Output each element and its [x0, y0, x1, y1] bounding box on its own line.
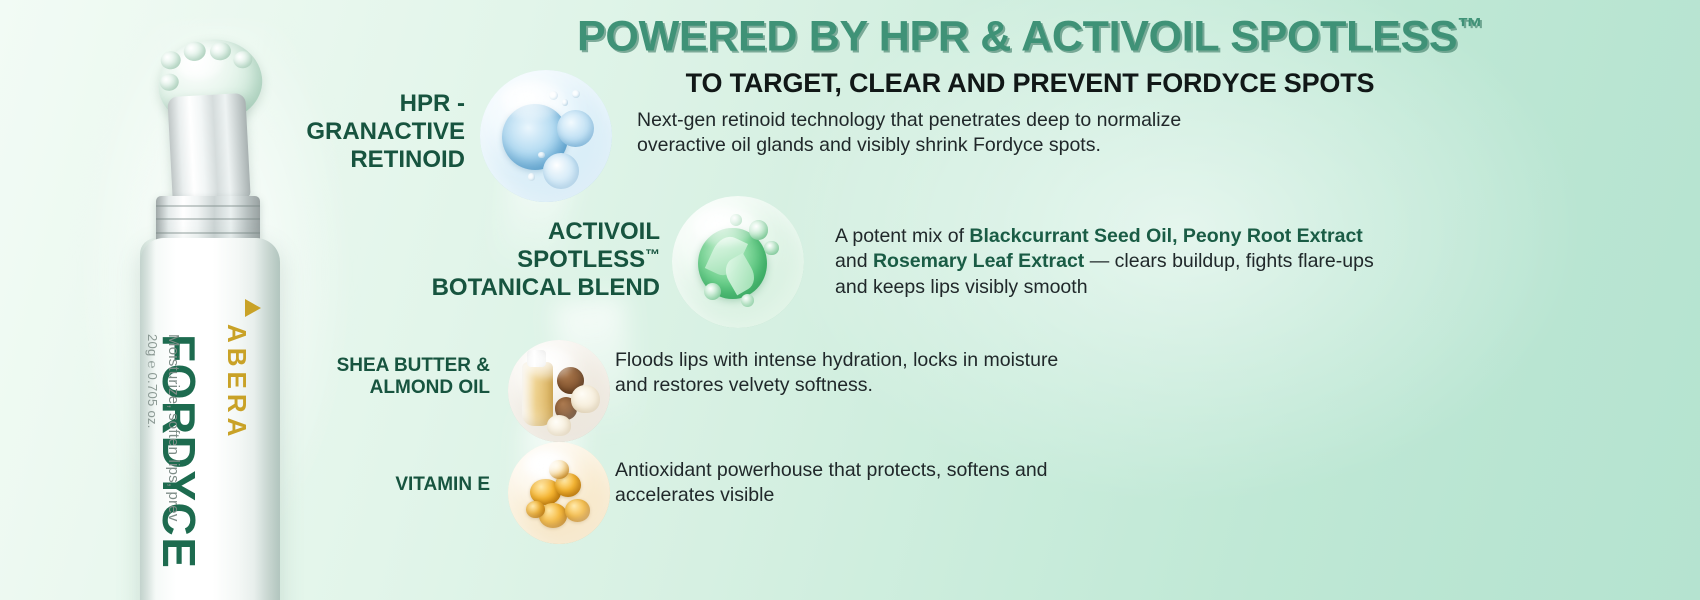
description-text: A potent mix of: [835, 225, 969, 247]
bottle-body: ABERA FORDYCE Moisturize, soften lips, p…: [140, 238, 280, 600]
headline-trademark: ™: [1457, 12, 1483, 42]
description-line: A potent mix of Blackcurrant Seed Oil, P…: [835, 224, 1455, 249]
ingredient-label-line: HPR -: [250, 90, 465, 118]
description-line: accelerates visible: [615, 483, 1235, 508]
bottle-collar: [156, 196, 260, 244]
ingredient-label-line: RETINOID: [250, 146, 465, 174]
green-botanical-orb-icon: [672, 196, 804, 328]
abera-logo-mark-icon: [245, 299, 261, 317]
almond-oil-shea-orb-icon: [508, 340, 610, 442]
applicator-stem: [167, 93, 250, 202]
description-line: overactive oil glands and visibly shrink…: [637, 133, 1297, 158]
description-line: Next-gen retinoid technology that penetr…: [637, 108, 1297, 133]
infographic-canvas: ABERA FORDYCE Moisturize, soften lips, p…: [0, 0, 1700, 600]
label-text: SPOTLESS: [517, 246, 645, 273]
vitamin-e-capsules-orb-icon: [508, 442, 610, 544]
ingredient-description-hpr: Next-gen retinoid technology that penetr…: [637, 108, 1297, 159]
ingredient-label-line: BOTANICAL BLEND: [400, 274, 660, 302]
description-line: Floods lips with intense hydration, lock…: [615, 348, 1235, 373]
ingredient-label-line: SPOTLESS™: [400, 246, 660, 274]
description-line: and restores velvety softness.: [615, 373, 1235, 398]
headline-main-text: POWERED BY HPR & ACTIVOIL SPOTLESS: [577, 12, 1457, 60]
page-headline: POWERED BY HPR & ACTIVOIL SPOTLESS™: [380, 12, 1680, 61]
ingredient-label-line: ACTIVOIL: [400, 218, 660, 246]
description-text: and: [835, 250, 873, 272]
ingredient-label-activoil: ACTIVOIL SPOTLESS™ BOTANICAL BLEND: [400, 218, 660, 301]
ingredient-label-vitamin-e: VITAMIN E: [300, 474, 490, 496]
ingredient-label-shea: SHEA BUTTER & ALMOND OIL: [300, 355, 490, 399]
blue-water-bubble-orb-icon: [480, 70, 612, 202]
ingredient-description-shea: Floods lips with intense hydration, lock…: [615, 348, 1235, 399]
ingredient-label-hpr: HPR - GRANACTIVE RETINOID: [250, 90, 465, 173]
ingredient-highlight: Rosemary Leaf Extract: [873, 250, 1084, 272]
ingredient-label-line: VITAMIN E: [300, 474, 490, 496]
description-text: — clears buildup, fights flare-ups: [1084, 250, 1373, 272]
description-line: Antioxidant powerhouse that protects, so…: [615, 458, 1235, 483]
description-line: and Rosemary Leaf Extract — clears build…: [835, 249, 1455, 274]
description-line: and keeps lips visibly smooth: [835, 275, 1455, 300]
bottle-size-text: 20g ℮ 0.705 oz.: [145, 334, 160, 429]
ingredient-label-line: GRANACTIVE: [250, 118, 465, 146]
ingredient-description-vitamin-e: Antioxidant powerhouse that protects, so…: [615, 458, 1235, 509]
bottle-brand-logo: ABERA: [221, 324, 252, 441]
description-text: and keeps lips visibly smooth: [835, 276, 1088, 298]
label-trademark: ™: [645, 247, 660, 263]
ingredient-highlight: Blackcurrant Seed Oil, Peony Root Extrac…: [969, 225, 1362, 247]
ingredient-description-activoil: A potent mix of Blackcurrant Seed Oil, P…: [835, 224, 1455, 300]
ingredient-label-line: ALMOND OIL: [300, 377, 490, 399]
bottle-tagline: Moisturize, soften lips, prev: [165, 334, 182, 522]
ingredient-label-line: SHEA BUTTER &: [300, 355, 490, 377]
